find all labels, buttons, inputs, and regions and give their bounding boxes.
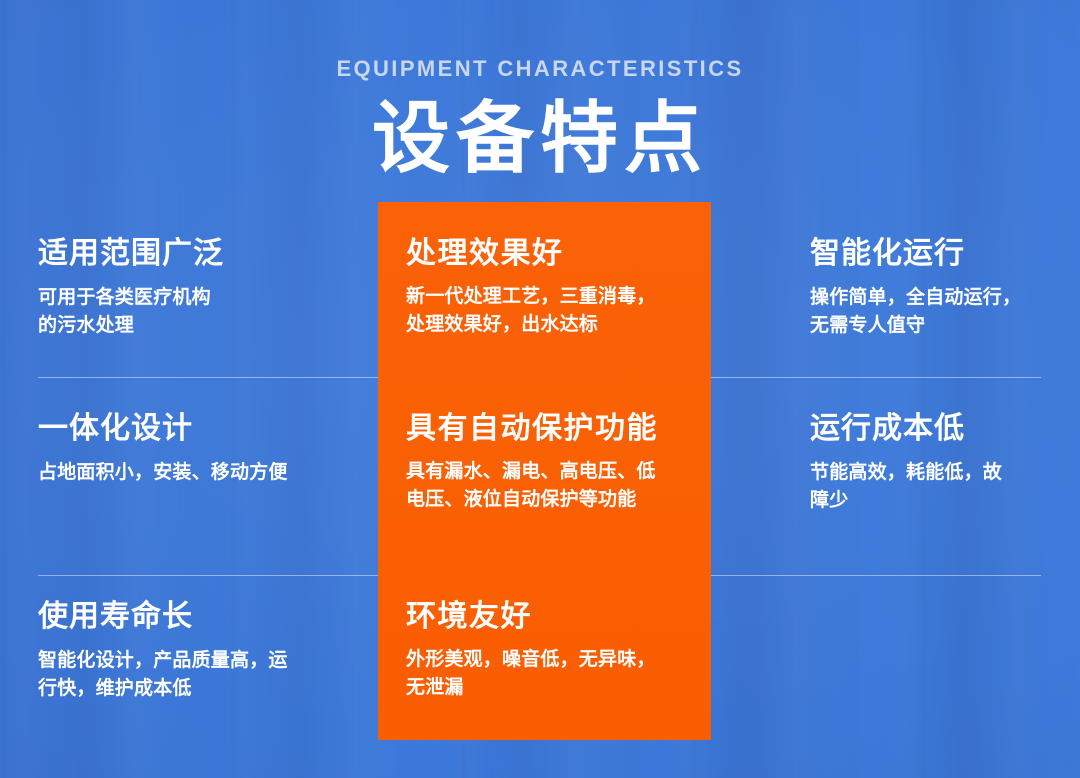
feature-grid: 适用范围广泛 可用于各类医疗机构 的污水处理 处理效果好 新一代处理工艺，三重消… [0, 0, 1080, 778]
feature-body: 占地面积小，安装、移动方便 [38, 459, 358, 487]
feature-title: 智能化运行 [810, 237, 1060, 270]
feature-body: 节能高效，耗能低，故 障少 [810, 459, 1060, 514]
feature-card-auto-protection: 具有自动保护功能 具有漏水、漏电、高电压、低 电压、液位自动保护等功能 [406, 412, 696, 513]
feature-body: 外形美观，噪音低，无异味， 无泄漏 [406, 646, 696, 701]
equipment-characteristics-poster: EQUIPMENT CHARACTERISTICS 设备特点 适用范围广泛 可用… [0, 0, 1080, 778]
feature-title: 一体化设计 [38, 412, 358, 445]
feature-body: 新一代处理工艺，三重消毒， 处理效果好，出水达标 [406, 283, 696, 338]
feature-card-scope: 适用范围广泛 可用于各类医疗机构 的污水处理 [38, 237, 358, 339]
feature-card-integrated-design: 一体化设计 占地面积小，安装、移动方便 [38, 412, 358, 487]
feature-title: 适用范围广泛 [38, 237, 358, 270]
feature-card-long-service-life: 使用寿命长 智能化设计，产品质量高，运 行快，维护成本低 [38, 600, 358, 702]
feature-body: 具有漏水、漏电、高电压、低 电压、液位自动保护等功能 [406, 458, 696, 513]
feature-body: 智能化设计，产品质量高，运 行快，维护成本低 [38, 647, 358, 702]
feature-title: 环境友好 [406, 600, 696, 633]
feature-title: 处理效果好 [406, 237, 696, 270]
feature-card-treatment-effect: 处理效果好 新一代处理工艺，三重消毒， 处理效果好，出水达标 [406, 237, 696, 338]
feature-title: 运行成本低 [810, 412, 1060, 445]
feature-card-intelligent-operation: 智能化运行 操作简单，全自动运行， 无需专人值守 [810, 237, 1060, 339]
feature-body: 可用于各类医疗机构 的污水处理 [38, 284, 358, 339]
feature-body: 操作简单，全自动运行， 无需专人值守 [810, 284, 1060, 339]
feature-card-low-operating-cost: 运行成本低 节能高效，耗能低，故 障少 [810, 412, 1060, 514]
feature-card-eco-friendly: 环境友好 外形美观，噪音低，无异味， 无泄漏 [406, 600, 696, 701]
feature-title: 使用寿命长 [38, 600, 358, 633]
feature-title: 具有自动保护功能 [406, 412, 696, 445]
